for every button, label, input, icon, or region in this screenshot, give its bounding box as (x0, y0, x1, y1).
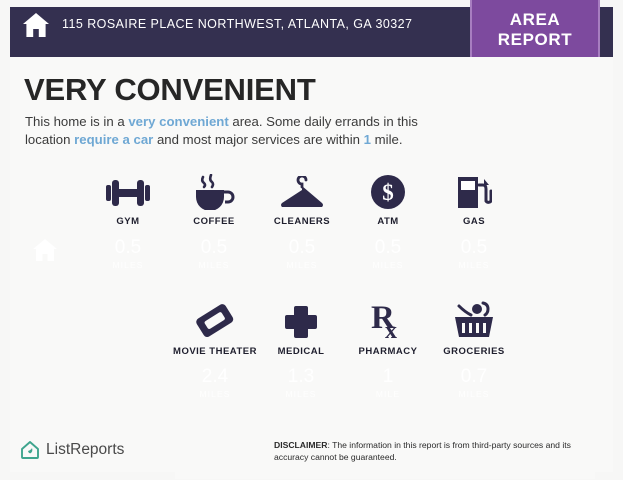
distance-gas: 0.5 MILES (431, 238, 517, 270)
distance-unit: MILES (431, 389, 517, 399)
dumbbell-icon (80, 168, 176, 210)
grocery-basket-icon (426, 298, 522, 340)
description-text: This home is in a very convenient area. … (25, 113, 455, 148)
distance-value: 0.5 (345, 238, 431, 258)
page-title: VERY CONVENIENT (24, 72, 316, 108)
distance-unit: MILES (85, 260, 171, 270)
badge-line-1: AREA (470, 10, 600, 30)
category-label: PHARMACY (340, 346, 436, 357)
category-label: ATM (340, 216, 436, 227)
category-label: GROCERIES (426, 346, 522, 357)
listreports-house-icon (20, 440, 40, 460)
category-pharmacy[interactable]: R x PHARMACY (340, 298, 436, 357)
badge-line-2: REPORT (470, 30, 600, 50)
distance-unit: MILE (345, 389, 431, 399)
category-medical[interactable]: MEDICAL (253, 298, 349, 357)
clothes-hanger-icon (254, 168, 350, 210)
desc-highlight-2: require a car (74, 132, 153, 147)
category-label: MOVIE THEATER (167, 346, 263, 357)
home-icon (22, 12, 50, 38)
distance-value: 0.5 (431, 238, 517, 258)
desc-part-3: and most major services are within (153, 132, 363, 147)
category-gas[interactable]: GAS (426, 168, 522, 227)
distance-cleaners: 0.5 MILES (259, 238, 345, 270)
dollar-circle-icon: $ (340, 168, 436, 210)
gas-pump-icon (426, 168, 522, 210)
distance-medical: 1.3 MILES (258, 367, 344, 399)
category-movie-theater[interactable]: MOVIE THEATER (167, 298, 263, 357)
distance-groceries: 0.7 MILES (431, 367, 517, 399)
distance-value: 0.5 (85, 238, 171, 258)
distance-unit: MILES (258, 389, 344, 399)
category-label: CLEANERS (254, 216, 350, 227)
category-label: COFFEE (166, 216, 262, 227)
desc-highlight-1: very convenient (128, 114, 228, 129)
distance-gym: 0.5 MILES (85, 238, 171, 270)
logo-text: ListReports (46, 441, 124, 459)
category-atm[interactable]: $ ATM (340, 168, 436, 227)
distance-coffee: 0.5 MILES (171, 238, 257, 270)
distance-unit: MILES (171, 260, 257, 270)
home-icon (32, 238, 58, 262)
svg-text:x: x (385, 318, 397, 340)
distance-unit: MILES (172, 389, 258, 399)
category-groceries[interactable]: GROCERIES (426, 298, 522, 357)
desc-part-1: This home is in a (25, 114, 128, 129)
distance-unit: MILES (431, 260, 517, 270)
desc-part-4: mile. (371, 132, 403, 147)
category-coffee[interactable]: COFFEE (166, 168, 262, 227)
distance-value: 0.7 (431, 367, 517, 387)
svg-text:$: $ (382, 180, 394, 205)
distance-unit: MILES (259, 260, 345, 270)
category-gym[interactable]: GYM (80, 168, 176, 227)
ticket-icon (167, 298, 263, 340)
listreports-logo[interactable]: ListReports (20, 440, 124, 460)
desc-highlight-3: 1 (364, 132, 371, 147)
distance-atm: 0.5 MILES (345, 238, 431, 270)
rx-icon: R x (340, 298, 436, 340)
coffee-cup-icon (166, 168, 262, 210)
area-report-infographic: 115 ROSAIRE PLACE NORTHWEST, ATLANTA, GA… (0, 0, 623, 480)
distance-value: 0.5 (171, 238, 257, 258)
distance-value: 0.5 (259, 238, 345, 258)
category-cleaners[interactable]: CLEANERS (254, 168, 350, 227)
distance-value: 2.4 (172, 367, 258, 387)
medical-cross-icon (253, 298, 349, 340)
category-label: MEDICAL (253, 346, 349, 357)
distance-value: 1.3 (258, 367, 344, 387)
category-label: GYM (80, 216, 176, 227)
disclaimer: DISCLAIMER: The information in this repo… (274, 440, 599, 463)
distance-movie-theater: 2.4 MILES (172, 367, 258, 399)
property-address: 115 ROSAIRE PLACE NORTHWEST, ATLANTA, GA… (62, 17, 412, 31)
disclaimer-label: DISCLAIMER (274, 440, 327, 450)
badge-title: AREA REPORT (470, 10, 600, 50)
distance-unit: MILES (345, 260, 431, 270)
distance-pharmacy: 1 MILE (345, 367, 431, 399)
distance-value: 1 (345, 367, 431, 387)
category-label: GAS (426, 216, 522, 227)
